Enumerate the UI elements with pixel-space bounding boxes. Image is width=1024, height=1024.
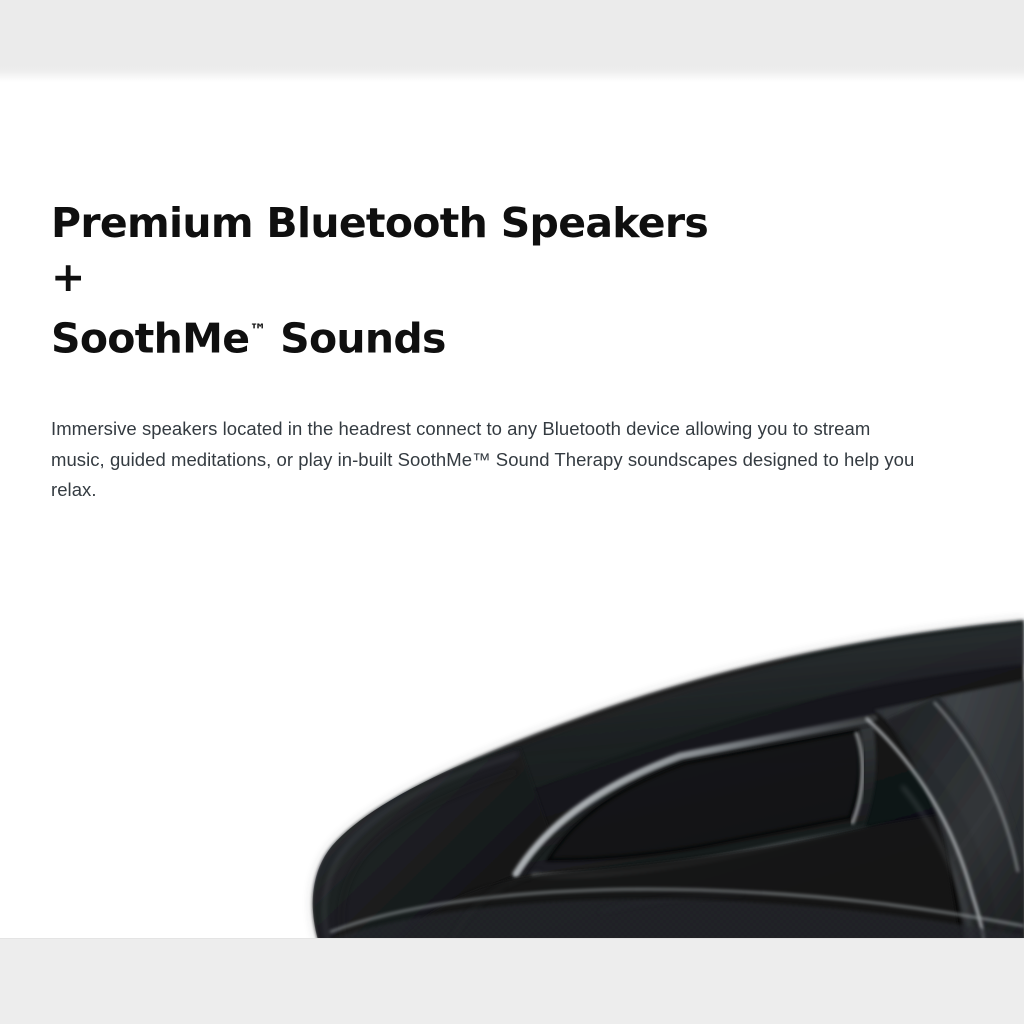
headrest-body xyxy=(300,618,1024,940)
trademark-symbol: ™ xyxy=(249,321,266,341)
page-title: Premium Bluetooth Speakers +SoothMe™ Sou… xyxy=(51,196,751,365)
feature-content: Premium Bluetooth Speakers +SoothMe™ Sou… xyxy=(51,196,931,506)
heading-brand: SoothMe xyxy=(51,314,249,362)
top-band xyxy=(0,0,1024,82)
product-image xyxy=(0,560,1024,940)
heading-line-1: Premium Bluetooth Speakers + xyxy=(51,199,708,301)
feature-panel: Premium Bluetooth Speakers +SoothMe™ Sou… xyxy=(0,0,1024,1024)
feature-description: Immersive speakers located in the headre… xyxy=(51,365,919,506)
heading-line-2-tail: Sounds xyxy=(267,314,446,362)
bottom-band xyxy=(0,938,1024,1024)
